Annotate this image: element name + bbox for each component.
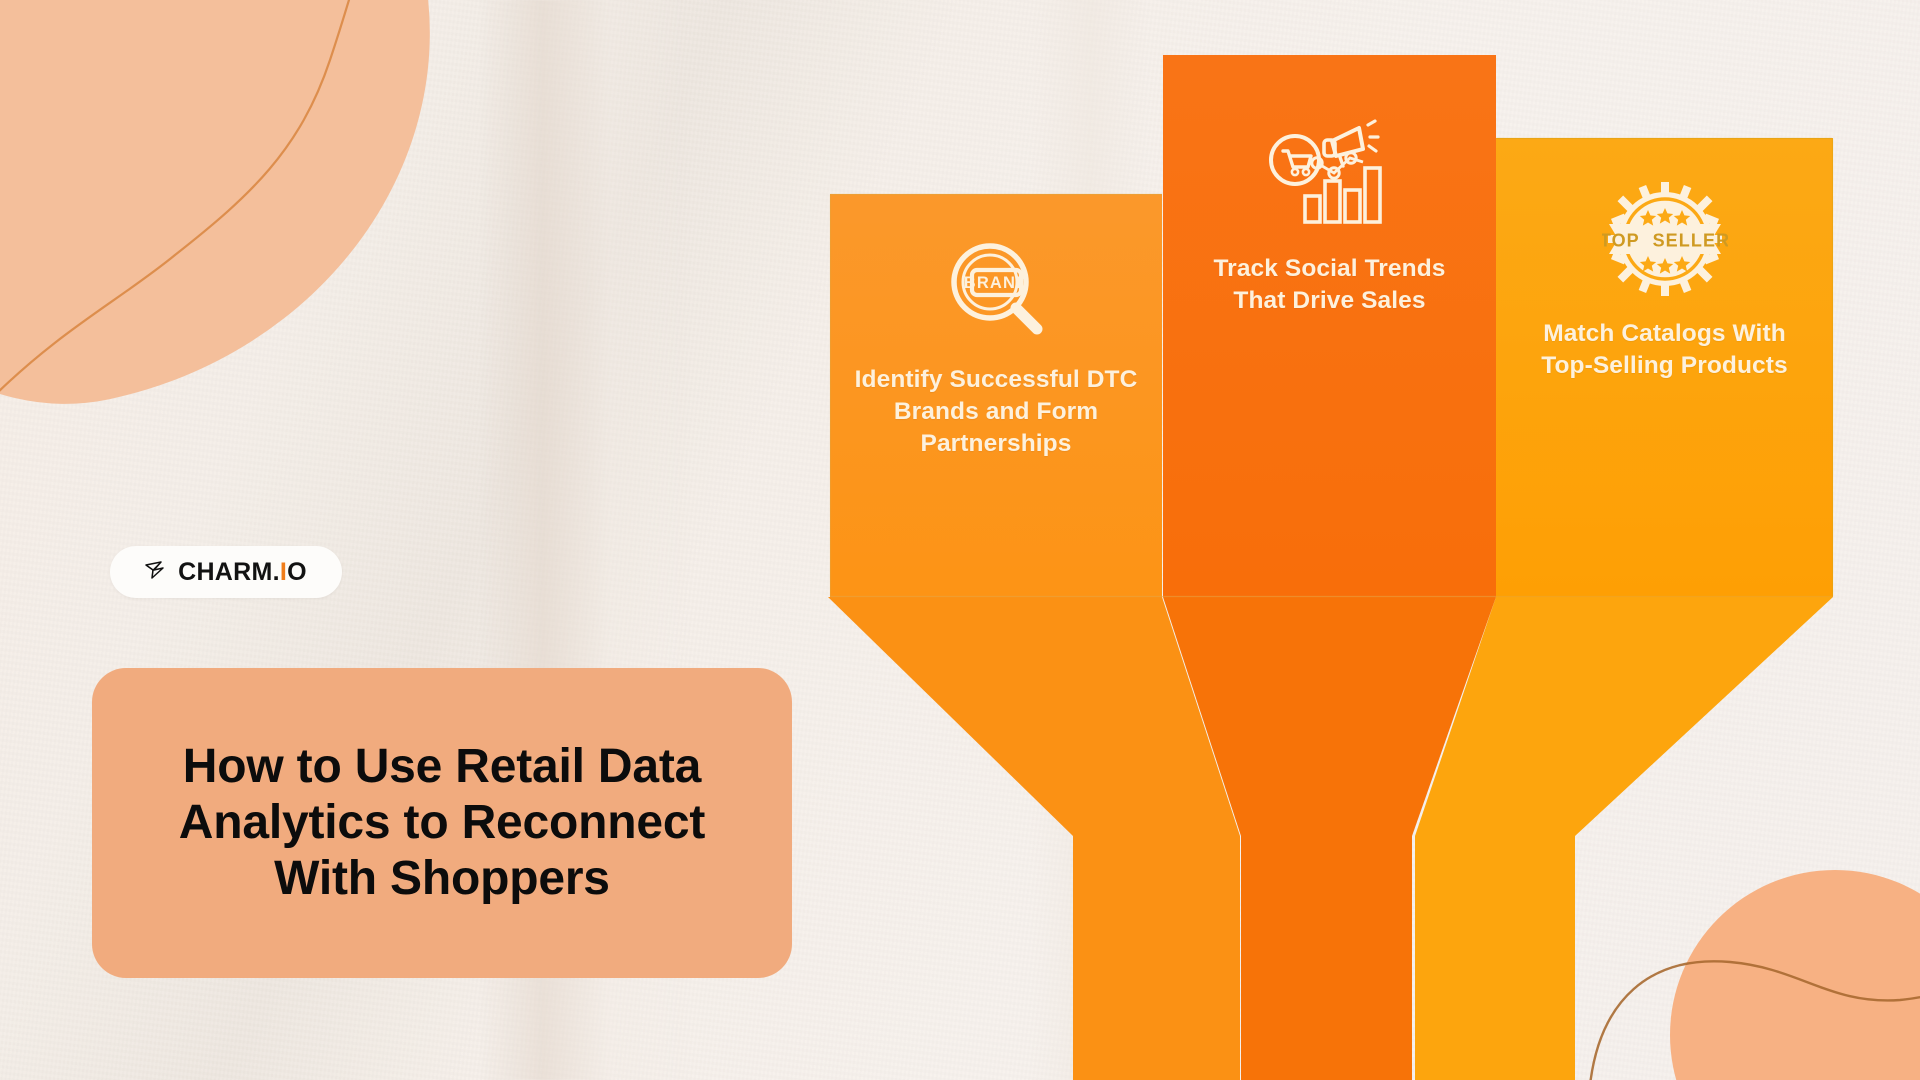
top-seller-badge-label-top: TOP (1602, 231, 1639, 251)
funnel-panel-match-catalogs[interactable]: TOP SELLER Match Catalogs With Top-Selli… (1496, 138, 1833, 597)
funnel-panel-caption: Track Social Trends That Drive Sales (1185, 253, 1475, 317)
page-title: How to Use Retail Data Analytics to Reco… (179, 739, 705, 907)
page-title-line-1: How to Use Retail Data (179, 739, 705, 795)
charm-io-logo-text: CHARM.IO (178, 560, 307, 585)
funnel-panel-caption: Identify Successful DTC Brands and Form … (846, 364, 1146, 460)
funnel-panel-caption: Match Catalogs With Top-Selling Products (1515, 318, 1815, 382)
page-title-line-2: Analytics to Reconnect (179, 795, 705, 851)
cart-megaphone-chart-icon (1264, 113, 1396, 233)
charm-io-logo[interactable]: CHARM.IO (110, 546, 342, 598)
funnel-panel-track-social-trends[interactable]: Track Social Trends That Drive Sales (1163, 55, 1496, 597)
funnel-panel-identify-brands[interactable]: BRAND Identify Successful DTC Brands and… (830, 194, 1162, 597)
page-title-line-3: With Shoppers (179, 851, 705, 907)
slide-canvas: BRAND Identify Successful DTC Brands and… (0, 0, 1920, 1080)
logo-text-charm: CHARM. (178, 558, 280, 586)
title-card: How to Use Retail Data Analytics to Reco… (92, 668, 792, 978)
origami-bird-icon (145, 561, 171, 583)
magnifier-brand-icon: BRAND (938, 234, 1054, 350)
logo-text-o: O (287, 558, 307, 586)
svg-text:TOP SELLER: TOP SELLER (1602, 231, 1728, 251)
top-seller-badge-icon: TOP SELLER (1602, 178, 1728, 300)
magnifier-brand-icon-label: BRAND (964, 274, 1030, 292)
top-seller-badge-label-bottom: SELLER (1652, 231, 1727, 251)
